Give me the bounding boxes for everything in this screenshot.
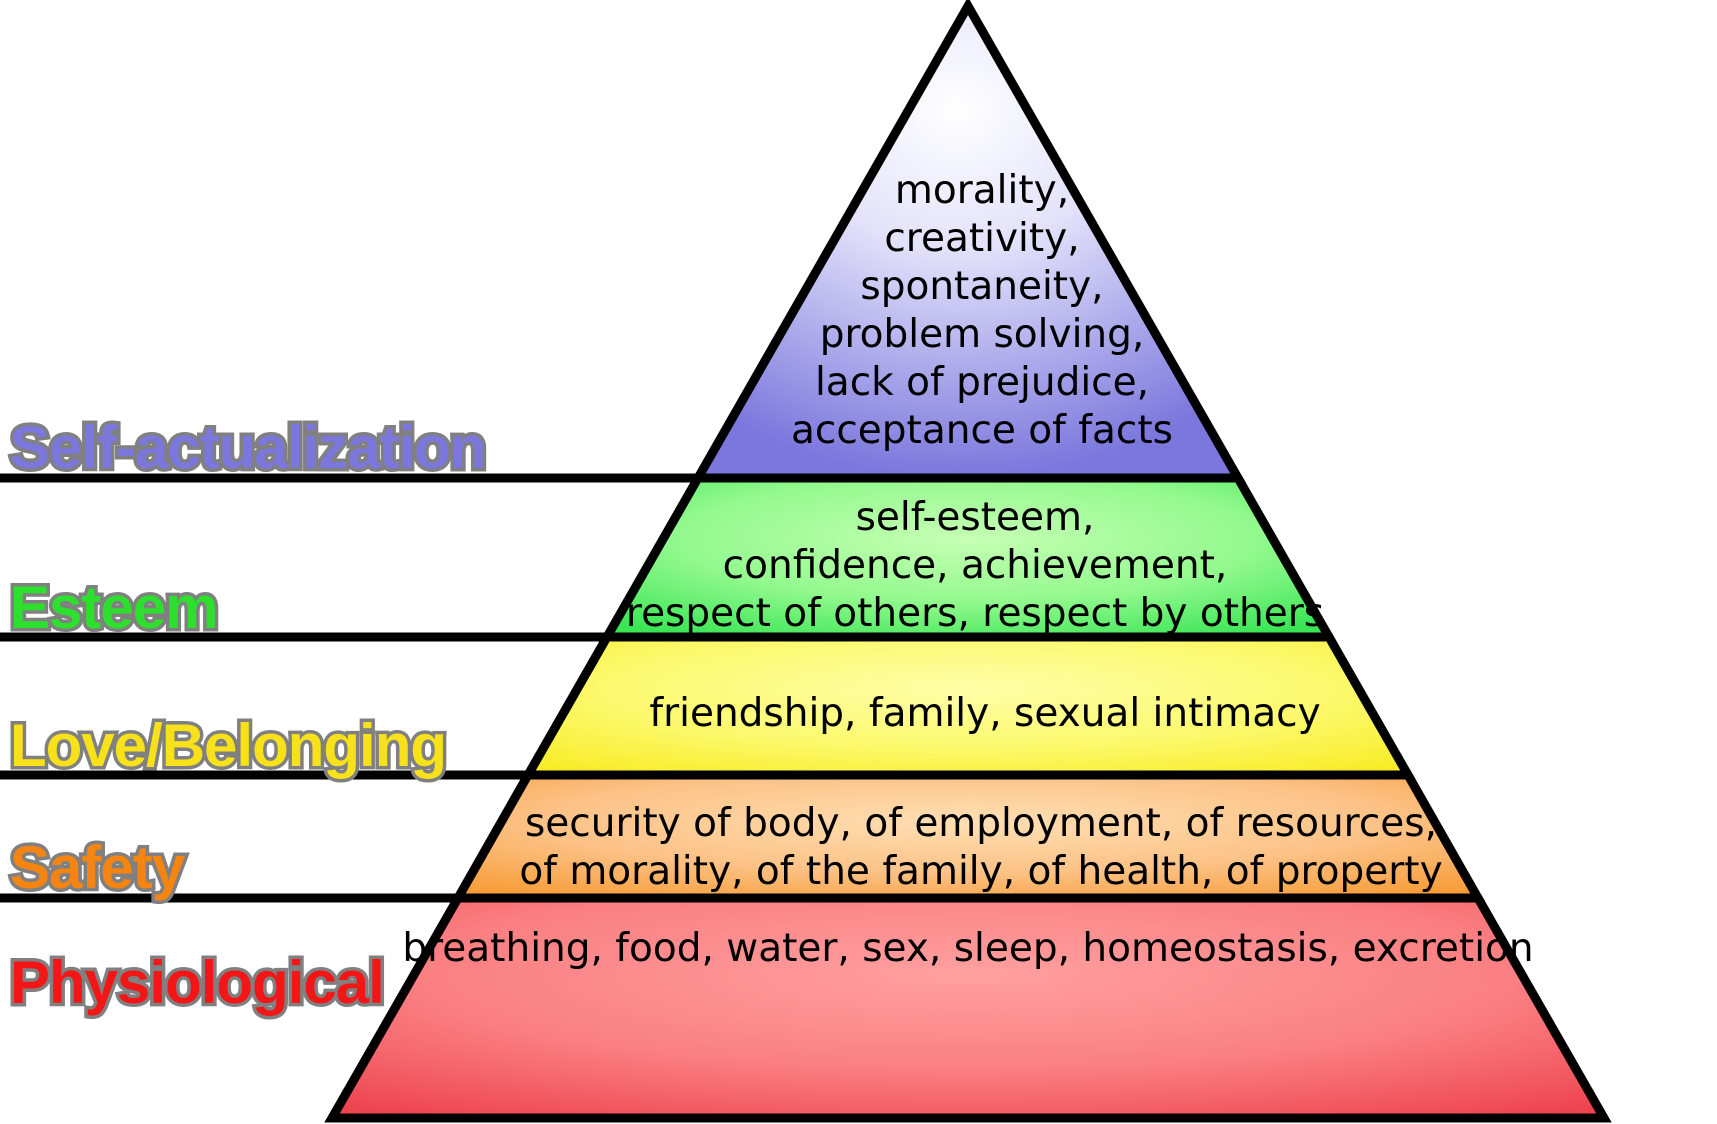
content-line: creativity, (884, 216, 1079, 261)
level-label-self-actualization: Self-actualization (10, 414, 485, 481)
content-line: respect of others, respect by others (626, 591, 1324, 636)
maslow-pyramid-diagram: morality, creativity, spontaneity, probl… (0, 0, 1717, 1124)
content-line: morality, (895, 168, 1069, 213)
level-label-esteem: Esteem (10, 574, 217, 641)
band-text-love-belonging: friendship, family, sexual intimacy (649, 691, 1320, 736)
pyramid-graphic: morality, creativity, spontaneity, probl… (0, 0, 1717, 1124)
level-label-safety: Safety (10, 834, 186, 901)
content-line: self-esteem, (856, 495, 1095, 540)
content-line: lack of prejudice, (815, 360, 1149, 405)
band-text-physiological: breathing, food, water, sex, sleep, home… (402, 926, 1533, 971)
content-line: security of body, of employment, of reso… (525, 801, 1437, 846)
content-line: of morality, of the family, of health, o… (519, 849, 1442, 894)
content-line: breathing, food, water, sex, sleep, home… (402, 926, 1533, 971)
content-line: friendship, family, sexual intimacy (649, 691, 1320, 736)
content-line: problem solving, (820, 312, 1145, 357)
content-line: confidence, achievement, (723, 543, 1228, 588)
content-line: acceptance of facts (791, 408, 1173, 453)
level-label-love-belonging: Love/Belonging (10, 712, 446, 779)
content-line: spontaneity, (860, 264, 1103, 309)
level-label-physiological: Physiological (10, 949, 384, 1016)
